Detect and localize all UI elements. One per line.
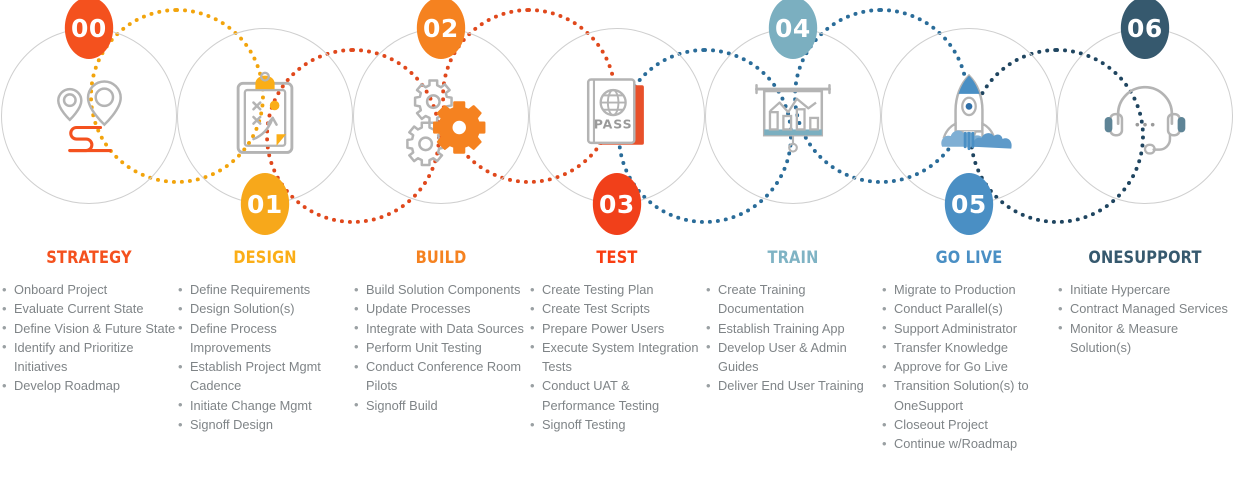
- stage-badge-00[interactable]: 00: [65, 0, 113, 59]
- stage-bullet-list: Create Testing PlanCreate Test ScriptsPr…: [529, 280, 705, 434]
- stage-badge-02[interactable]: 02: [417, 0, 465, 59]
- stage-badge-05[interactable]: 05: [945, 173, 993, 235]
- rocket-launch-icon: [921, 68, 1017, 164]
- list-item: Signoff Testing: [529, 415, 705, 434]
- stage-badge-06[interactable]: 06: [1121, 0, 1169, 59]
- roadmap-band: 00 01: [0, 0, 1234, 246]
- passport-pass-icon: PASS: [569, 68, 665, 164]
- stage-column-train: TRAINCreate Training DocumentationEstabl…: [705, 248, 881, 396]
- stage-title-00: STRATEGY: [13, 248, 164, 268]
- stage-badge-04[interactable]: 04: [769, 0, 817, 59]
- list-item: Monitor & Measure Solution(s): [1057, 319, 1233, 358]
- list-item: Define Vision & Future State: [1, 319, 177, 338]
- gears-icon: [393, 68, 489, 164]
- stage-bullet-list: Migrate to ProductionConduct Parallel(s)…: [881, 280, 1057, 454]
- stage-title-04: TRAIN: [717, 248, 868, 268]
- stage-column-onesupport: ONESUPPORTInitiate HypercareContract Man…: [1057, 248, 1233, 357]
- list-item: Create Training Documentation: [705, 280, 881, 319]
- stage-badge-01[interactable]: 01: [241, 173, 289, 235]
- headset-support-icon: [1097, 68, 1193, 164]
- list-item: Create Test Scripts: [529, 299, 705, 318]
- clipboard-strategy-icon: [217, 68, 313, 164]
- stage-badge-number: 05: [951, 190, 987, 219]
- list-item: Design Solution(s): [177, 299, 353, 318]
- stage-badge-number: 01: [247, 190, 283, 219]
- list-item: Deliver End User Training: [705, 376, 881, 395]
- stage-bullet-list: Create Training DocumentationEstablish T…: [705, 280, 881, 396]
- stage-title-06: ONESUPPORT: [1069, 248, 1220, 268]
- list-item: Closeout Project: [881, 415, 1057, 434]
- list-item: Support Administrator: [881, 319, 1057, 338]
- stage-badge-number: 03: [599, 190, 635, 219]
- stage-badge-number: 04: [775, 14, 811, 43]
- presentation-chart-icon: [745, 68, 841, 164]
- stage-column-build: BUILDBuild Solution ComponentsUpdate Pro…: [353, 248, 529, 415]
- list-item: Continue w/Roadmap: [881, 434, 1057, 453]
- stage-title-03: TEST: [541, 248, 692, 268]
- stage-title-01: DESIGN: [189, 248, 340, 268]
- stage-badge-number: 06: [1127, 14, 1163, 43]
- list-item: Contract Managed Services: [1057, 299, 1233, 318]
- list-item: Conduct Parallel(s): [881, 299, 1057, 318]
- list-item: Migrate to Production: [881, 280, 1057, 299]
- list-item: Establish Training App: [705, 319, 881, 338]
- list-item: Conduct UAT & Performance Testing: [529, 376, 705, 415]
- list-item: Transition Solution(s) to OneSupport: [881, 376, 1057, 415]
- list-item: Create Testing Plan: [529, 280, 705, 299]
- stage-bullet-list: Define RequirementsDesign Solution(s)Def…: [177, 280, 353, 434]
- roadmap-columns: STRATEGYOnboard ProjectEvaluate Current …: [0, 248, 1234, 494]
- list-item: Define Process Improvements: [177, 319, 353, 358]
- stage-column-test: TESTCreate Testing PlanCreate Test Scrip…: [529, 248, 705, 434]
- list-item: Execute System Integration Tests: [529, 338, 705, 377]
- stage-title-02: BUILD: [365, 248, 516, 268]
- map-pins-route-icon: [41, 68, 137, 164]
- list-item: Identify and Prioritize Initiatives: [1, 338, 177, 377]
- list-item: Integrate with Data Sources: [353, 319, 529, 338]
- stage-bullet-list: Build Solution ComponentsUpdate Processe…: [353, 280, 529, 415]
- list-item: Develop User & Admin Guides: [705, 338, 881, 377]
- list-item: Develop Roadmap: [1, 376, 177, 395]
- stage-bullet-list: Initiate HypercareContract Managed Servi…: [1057, 280, 1233, 357]
- stage-badge-number: 00: [71, 14, 107, 43]
- stage-column-go-live: GO LIVEMigrate to ProductionConduct Para…: [881, 248, 1057, 454]
- stage-bullet-list: Onboard ProjectEvaluate Current StateDef…: [1, 280, 177, 396]
- list-item: Build Solution Components: [353, 280, 529, 299]
- svg-text:PASS: PASS: [594, 116, 633, 131]
- list-item: Evaluate Current State: [1, 299, 177, 318]
- stage-badge-03[interactable]: 03: [593, 173, 641, 235]
- stage-title-05: GO LIVE: [893, 248, 1044, 268]
- stage-column-strategy: STRATEGYOnboard ProjectEvaluate Current …: [1, 248, 177, 396]
- list-item: Define Requirements: [177, 280, 353, 299]
- list-item: Initiate Change Mgmt: [177, 396, 353, 415]
- list-item: Update Processes: [353, 299, 529, 318]
- stage-column-design: DESIGNDefine RequirementsDesign Solution…: [177, 248, 353, 434]
- list-item: Signoff Build: [353, 396, 529, 415]
- list-item: Transfer Knowledge: [881, 338, 1057, 357]
- list-item: Conduct Conference Room Pilots: [353, 357, 529, 396]
- list-item: Approve for Go Live: [881, 357, 1057, 376]
- list-item: Prepare Power Users: [529, 319, 705, 338]
- list-item: Perform Unit Testing: [353, 338, 529, 357]
- list-item: Signoff Design: [177, 415, 353, 434]
- list-item: Establish Project Mgmt Cadence: [177, 357, 353, 396]
- list-item: Initiate Hypercare: [1057, 280, 1233, 299]
- list-item: Onboard Project: [1, 280, 177, 299]
- stage-badge-number: 02: [423, 14, 459, 43]
